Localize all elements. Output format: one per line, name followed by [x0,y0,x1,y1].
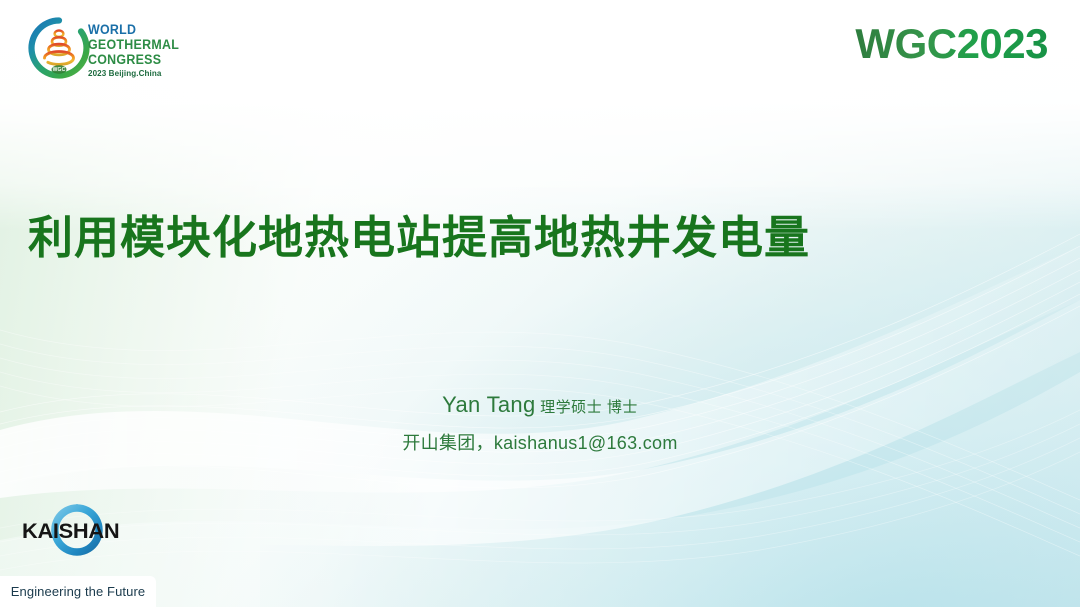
wgc-logo-line-world: WORLD [88,23,179,37]
slide-title: 利用模块化地热电站提高地热井发电量 [28,212,1052,264]
author-block: Yan Tang 理学硕士 博士 开山集团，kaishanus1@163.com [0,392,1080,455]
wgc2023-wordmark: WGC2023 [855,20,1048,68]
author-degree: 理学硕士 博士 [536,399,638,416]
kaishan-tagline-band: Engineering the Future [0,576,156,607]
kaishan-tagline: Engineering the Future [11,584,145,599]
wgc-logo-line-geothermal: GEOTHERMAL [88,38,179,52]
kaishan-wordmark: KAISHAN [22,520,155,544]
wgc-emblem-icon: WGC [28,17,90,79]
author-affiliation: 开山集团，kaishanus1@163.com [0,429,1080,455]
wgc-logo-subtitle: 2023 Beijing.China [88,69,182,78]
wgc-logo-line-congress: CONGRESS [88,53,179,67]
author-line: Yan Tang 理学硕士 博士 [0,392,1080,418]
kaishan-logo: KAISHAN [22,503,150,557]
presentation-title-slide: WGC WORLD GEOTHERMAL CONGRESS 2023 Beiji… [0,0,1080,607]
slide-header: WGC WORLD GEOTHERMAL CONGRESS 2023 Beiji… [0,0,1080,95]
svg-text:WGC: WGC [53,67,66,73]
author-name: Yan Tang [442,392,535,417]
wgc-logo-wordmark: WORLD GEOTHERMAL CONGRESS 2023 Beijing.C… [88,23,187,77]
